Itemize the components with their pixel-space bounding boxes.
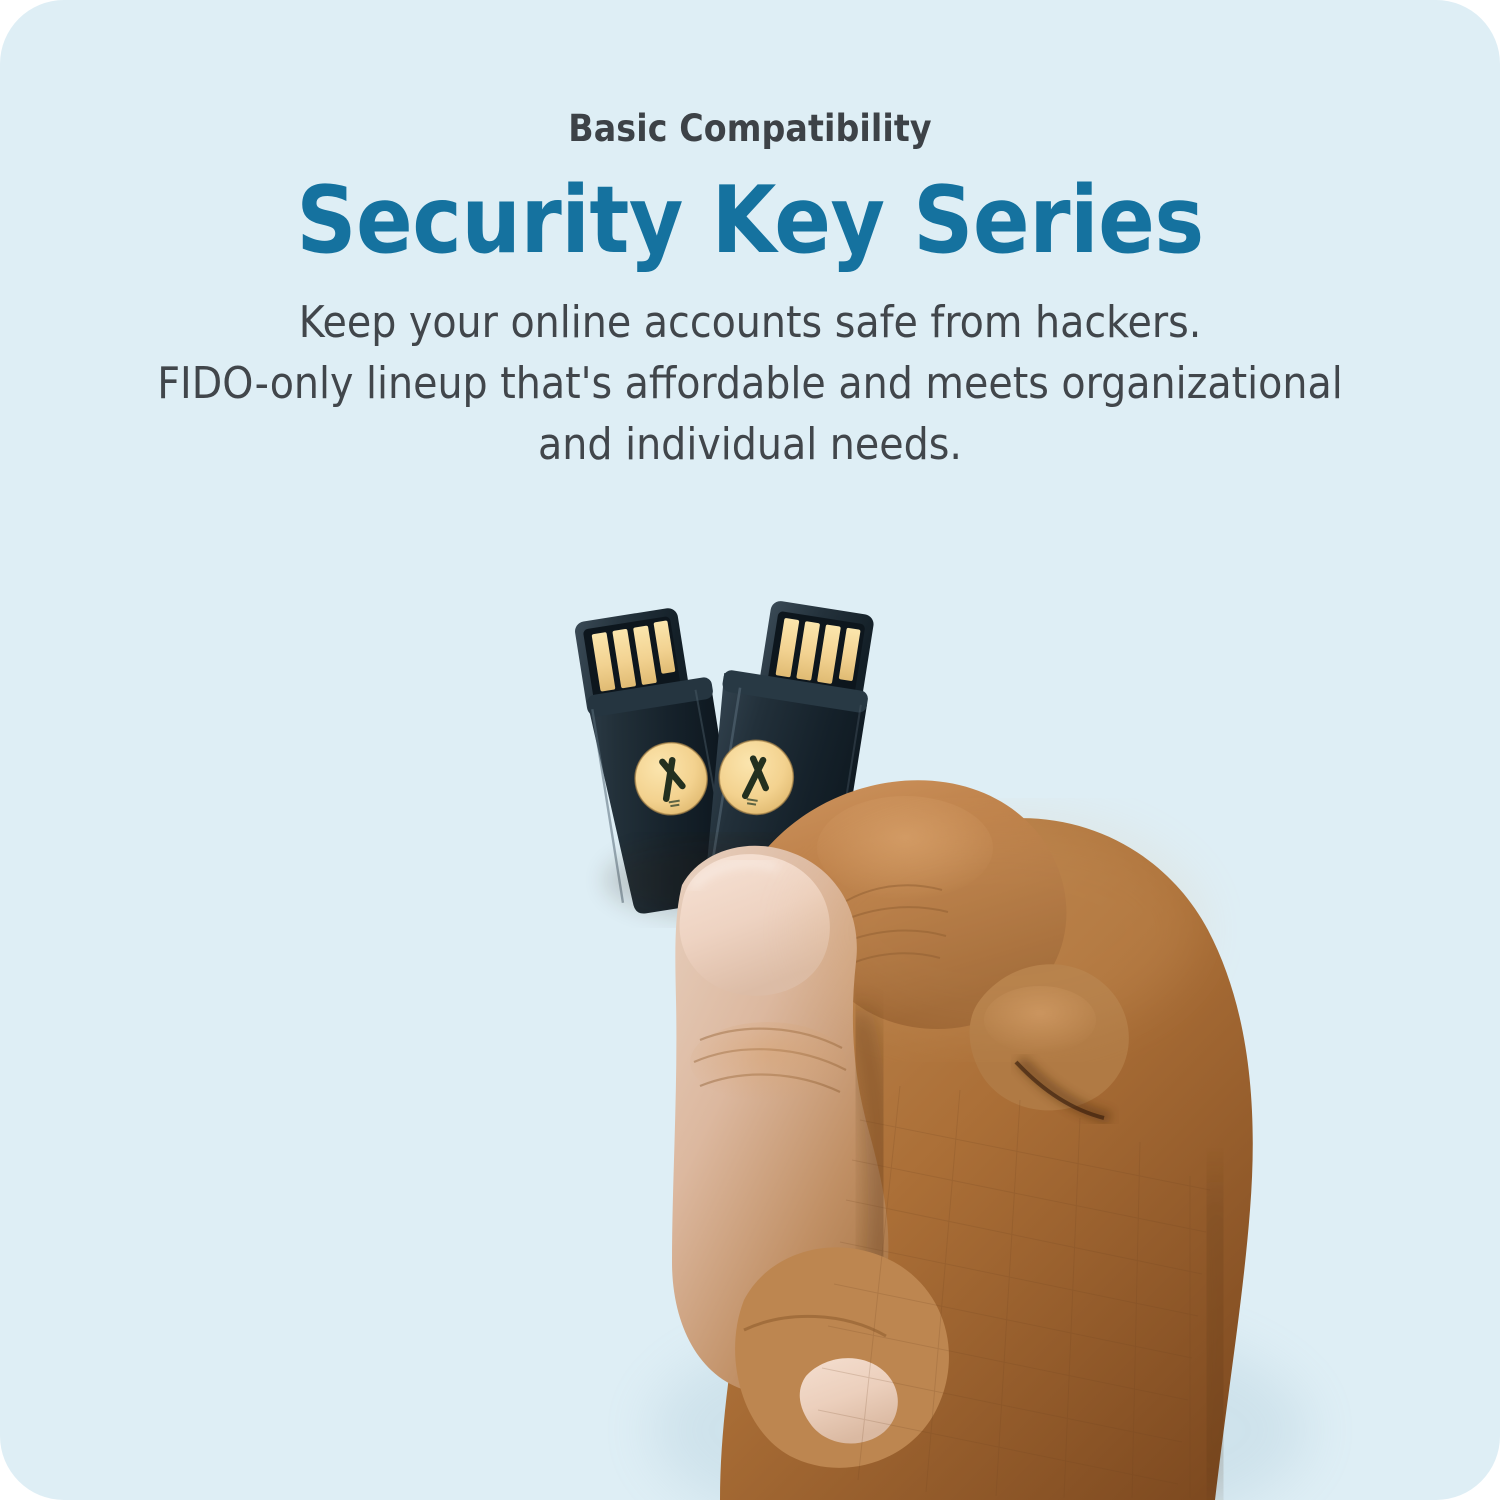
page-title: Security Key Series (0, 151, 1500, 270)
subcopy-line-1: Keep your online accounts safe from hack… (80, 293, 1420, 354)
hand (650, 780, 1310, 1500)
header-text-block: Basic Compatibility Security Key Series … (0, 0, 1500, 475)
subcopy: Keep your online accounts safe from hack… (80, 269, 1420, 475)
eyebrow-label: Basic Compatibility (0, 0, 1500, 151)
screenshot-canvas: Basic Compatibility Security Key Series … (0, 0, 1500, 1500)
subcopy-line-2: FIDO-only lineup that's affordable and m… (80, 354, 1420, 415)
subcopy-line-3: and individual needs. (80, 415, 1420, 476)
